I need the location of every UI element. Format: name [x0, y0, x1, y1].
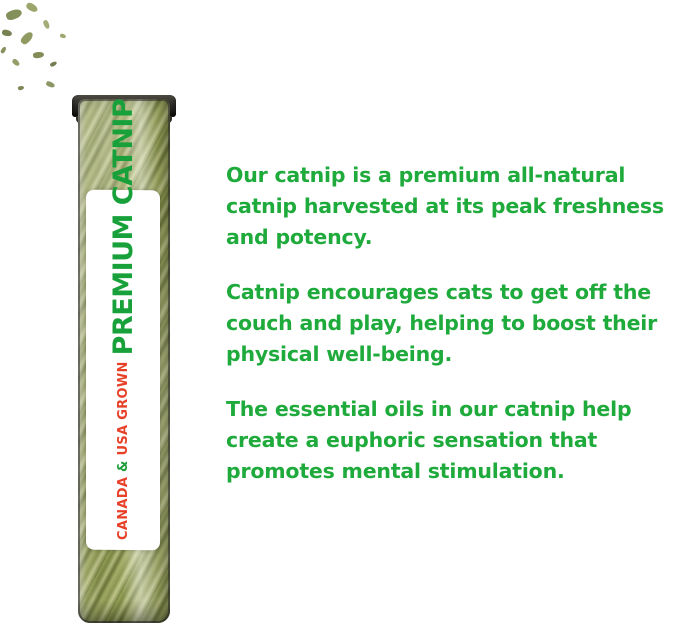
catnip-flake-icon: [60, 33, 67, 39]
label-origin-text: CANADA & USA GROWN: [116, 361, 131, 540]
marketing-copy: Our catnip is a premium all-natural catn…: [226, 160, 676, 487]
catnip-flake-icon: [1, 29, 12, 37]
product-photo: CANADA & USA GROWN PREMIUM CATNIP: [0, 0, 215, 643]
catnip-flake-icon: [33, 51, 45, 58]
catnip-flake-icon: [42, 19, 50, 29]
catnip-flake-icon: [18, 85, 25, 90]
label-product-name: PREMIUM CATNIP: [108, 99, 139, 356]
catnip-flake-icon: [49, 61, 57, 68]
catnip-flake-icon: [45, 80, 55, 88]
copy-paragraph-3: The essential oils in our catnip help cr…: [226, 394, 676, 487]
catnip-flake-icon: [11, 58, 20, 67]
copy-paragraph-1: Our catnip is a premium all-natural catn…: [226, 160, 676, 253]
catnip-flake-icon: [19, 30, 34, 46]
product-label: CANADA & USA GROWN PREMIUM CATNIP: [86, 190, 160, 550]
product-marketing-image: CANADA & USA GROWN PREMIUM CATNIP Our ca…: [0, 0, 679, 643]
catnip-flake-icon: [5, 8, 23, 22]
catnip-flake-icon: [0, 46, 7, 54]
catnip-flake-icon: [25, 1, 39, 13]
tube-bottom-shadow: [78, 600, 170, 623]
label-text-group: CANADA & USA GROWN PREMIUM CATNIP: [86, 190, 160, 550]
copy-paragraph-2: Catnip encourages cats to get off the co…: [226, 277, 676, 370]
